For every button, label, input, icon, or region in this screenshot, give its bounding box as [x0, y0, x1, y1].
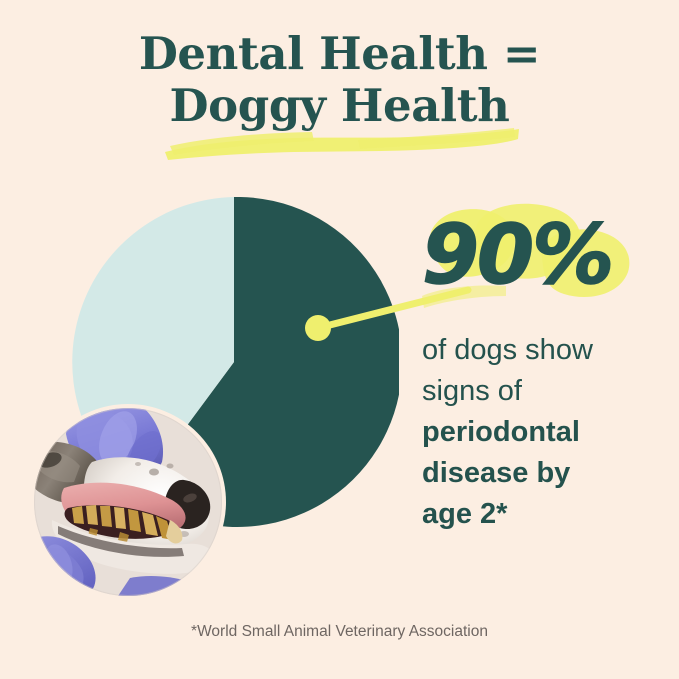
description-line-1: of dogs show [422, 330, 662, 371]
description-line-2: signs of [422, 371, 662, 412]
stat-description: of dogs show signs of periodontal diseas… [422, 330, 662, 535]
page-title-line-2: Doggy Health [0, 80, 679, 132]
description-line-5: age 2* [422, 494, 662, 535]
description-line-3: periodontal [422, 412, 662, 453]
page-title-line-1: Dental Health = [0, 28, 679, 80]
stat-callout: 90% [414, 196, 650, 320]
description-line-4: disease by [422, 453, 662, 494]
source-footnote: *World Small Animal Veterinary Associati… [0, 622, 679, 642]
stat-value: 90% [422, 204, 648, 308]
page-title: Dental Health = Doggy Health [0, 28, 679, 132]
dog-dental-photo [34, 408, 222, 596]
infographic-canvas: Dental Health = Doggy Health [0, 0, 679, 679]
